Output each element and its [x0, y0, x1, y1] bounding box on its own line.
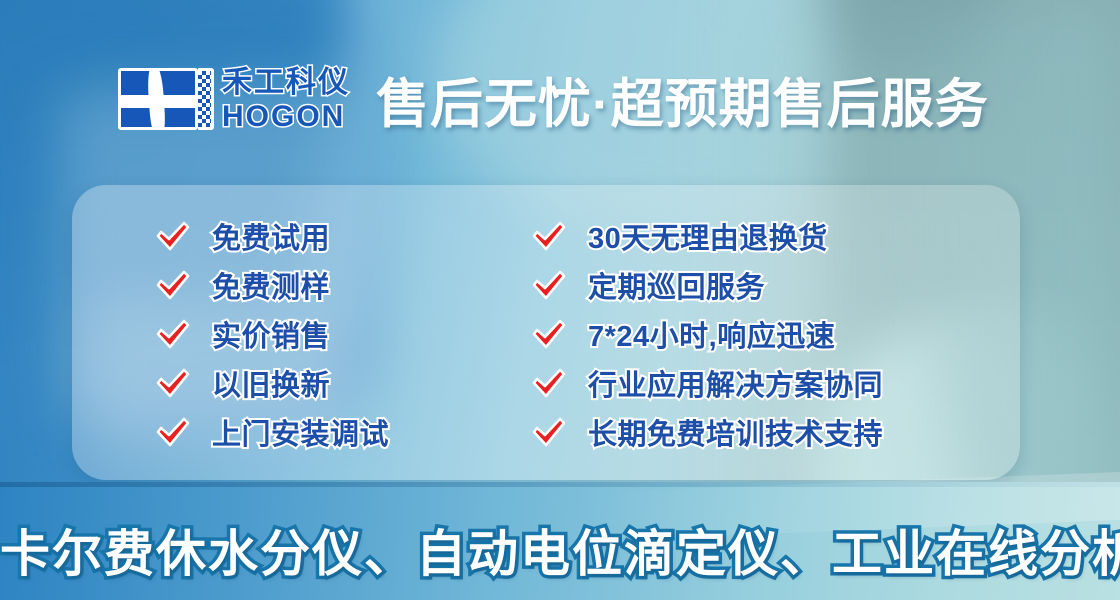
feature-item: 免费试用 [156, 211, 516, 260]
banner-headline: 售后无忧·超预期售后服务 [376, 62, 989, 138]
feature-item: 实价销售 [156, 309, 516, 358]
promo-banner: 禾工科仪 HOGON 售后无忧·超预期售后服务 免费试用 免费测样 实价销售 [0, 0, 1120, 600]
red-checkmark-icon [532, 417, 566, 447]
feature-label: 实价销售 [212, 313, 330, 355]
feature-item: 行业应用解决方案协同 [532, 358, 1002, 407]
features-right-column: 30天无理由退换货 定期巡回服务 7*24小时,响应迅速 行业应用解决方案协同 … [532, 211, 1002, 480]
feature-label: 免费试用 [212, 215, 330, 257]
banner-header: 禾工科仪 HOGON 售后无忧·超预期售后服务 [118, 62, 989, 138]
feature-label: 上门安装调试 [212, 411, 389, 453]
features-left-column: 免费试用 免费测样 实价销售 以旧换新 上门安装调试 [156, 211, 516, 480]
feature-item: 免费测样 [156, 260, 516, 309]
red-checkmark-icon [532, 319, 566, 349]
hogon-flag-logo-icon [118, 68, 198, 130]
brand-wordmark: 禾工科仪 HOGON [222, 68, 350, 132]
red-checkmark-icon [532, 270, 566, 300]
feature-item: 上门安装调试 [156, 407, 516, 456]
feature-label: 30天无理由退换货 [588, 215, 828, 257]
red-checkmark-icon [156, 221, 190, 251]
features-panel: 免费试用 免费测样 实价销售 以旧换新 上门安装调试 [72, 185, 1020, 480]
feature-label: 7*24小时,响应迅速 [588, 313, 835, 355]
feature-item: 以旧换新 [156, 358, 516, 407]
logo-checker-strip-icon [198, 68, 214, 130]
feature-item: 30天无理由退换货 [532, 211, 1002, 260]
feature-label: 定期巡回服务 [588, 264, 765, 306]
red-checkmark-icon [156, 368, 190, 398]
red-checkmark-icon [532, 368, 566, 398]
feature-item: 长期免费培训技术支持 [532, 407, 1002, 456]
feature-item: 定期巡回服务 [532, 260, 1002, 309]
red-checkmark-icon [156, 270, 190, 300]
brand-name-en: HOGON [222, 102, 350, 132]
red-checkmark-icon [532, 221, 566, 251]
feature-item: 7*24小时,响应迅速 [532, 309, 1002, 358]
feature-label: 免费测样 [212, 264, 330, 306]
product-line-text: 卡尔费休水分仪、自动电位滴定仪、工业在线分析仪 [0, 514, 1120, 586]
brand-name-cn: 禾工科仪 [222, 68, 350, 98]
feature-label: 行业应用解决方案协同 [588, 362, 883, 404]
feature-label: 以旧换新 [212, 362, 330, 404]
red-checkmark-icon [156, 417, 190, 447]
features-columns: 免费试用 免费测样 实价销售 以旧换新 上门安装调试 [72, 185, 1020, 480]
brand-logo: 禾工科仪 HOGON [118, 68, 350, 132]
feature-label: 长期免费培训技术支持 [588, 411, 883, 453]
red-checkmark-icon [156, 319, 190, 349]
